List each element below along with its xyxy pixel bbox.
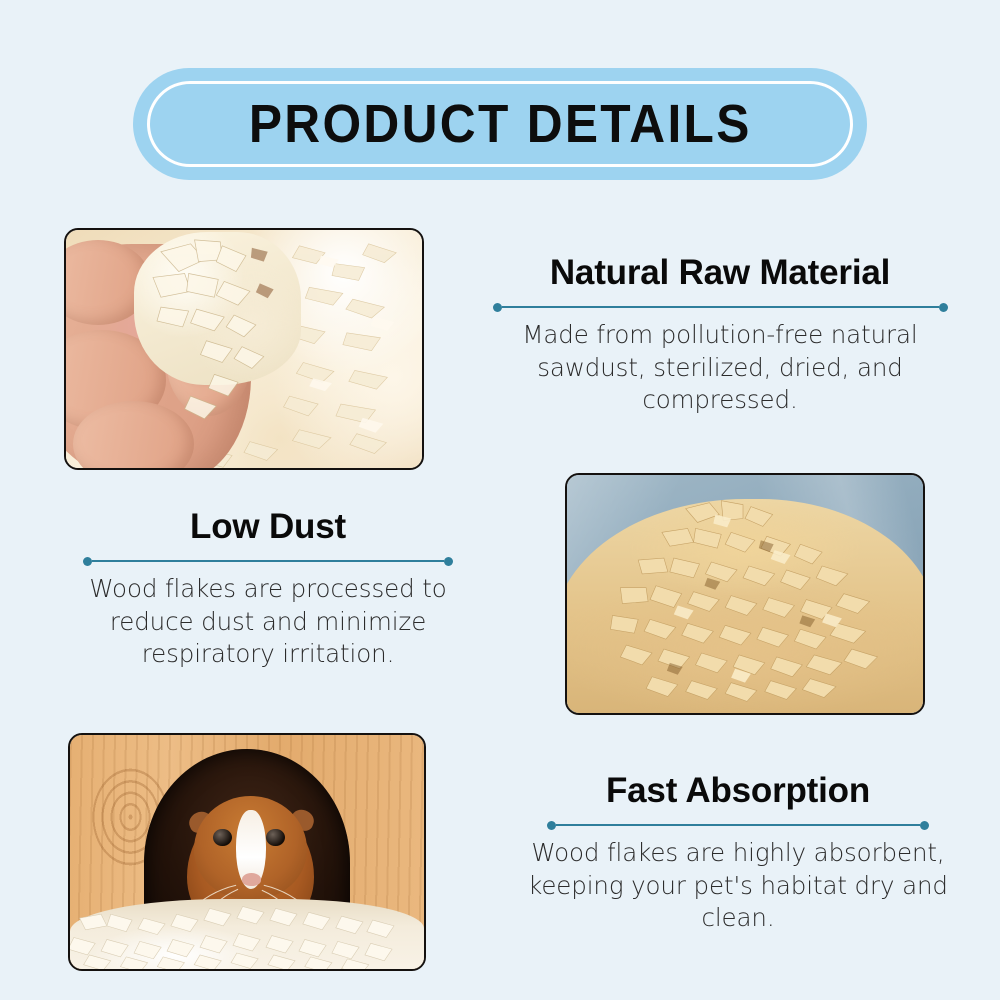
divider-dot-left: [83, 557, 92, 566]
divider-dot-right: [444, 557, 453, 566]
photo-3-canvas: [70, 735, 424, 969]
feature-body: Made from pollution-free natural sawdust…: [505, 319, 935, 417]
banner-inner-border: PRODUCT DETAILS: [147, 81, 853, 167]
pinched-flakes-detail: [66, 230, 422, 469]
bedding-flakes-texture: [70, 889, 417, 969]
hand-holding-wood-shavings-photo: [64, 228, 424, 470]
photo-2-canvas: [567, 475, 923, 713]
divider-dot-right: [939, 303, 948, 312]
divider-dot-right: [920, 821, 929, 830]
wood-shavings-pile-photo: [565, 473, 925, 715]
divider-dot-left: [493, 303, 502, 312]
guinea-pig-in-wooden-hideout-photo: [68, 733, 426, 971]
feature-divider: [547, 819, 929, 831]
product-details-banner: PRODUCT DETAILS: [133, 68, 867, 180]
feature-divider: [83, 555, 453, 567]
feature-block-low-dust: Low Dust Wood flakes are processed to re…: [28, 506, 508, 671]
feature-heading: Fast Absorption: [488, 770, 988, 811]
feature-divider: [493, 301, 948, 313]
divider-dot-left: [547, 821, 556, 830]
feature-heading: Low Dust: [28, 506, 508, 547]
feature-block-fast-absorption: Fast Absorption Wood flakes are highly a…: [488, 770, 988, 935]
feature-body: Wood flakes are highly absorbent, keepin…: [503, 837, 973, 935]
feature-body: Wood flakes are processed to reduce dust…: [53, 573, 483, 671]
feature-block-natural-raw-material: Natural Raw Material Made from pollution…: [470, 252, 970, 417]
pile-flakes-texture: [567, 475, 923, 714]
divider-line: [502, 306, 939, 308]
page-title: PRODUCT DETAILS: [249, 97, 752, 151]
divider-line: [92, 560, 444, 562]
feature-heading: Natural Raw Material: [470, 252, 970, 293]
photo-1-canvas: [66, 230, 422, 468]
divider-line: [556, 824, 920, 826]
